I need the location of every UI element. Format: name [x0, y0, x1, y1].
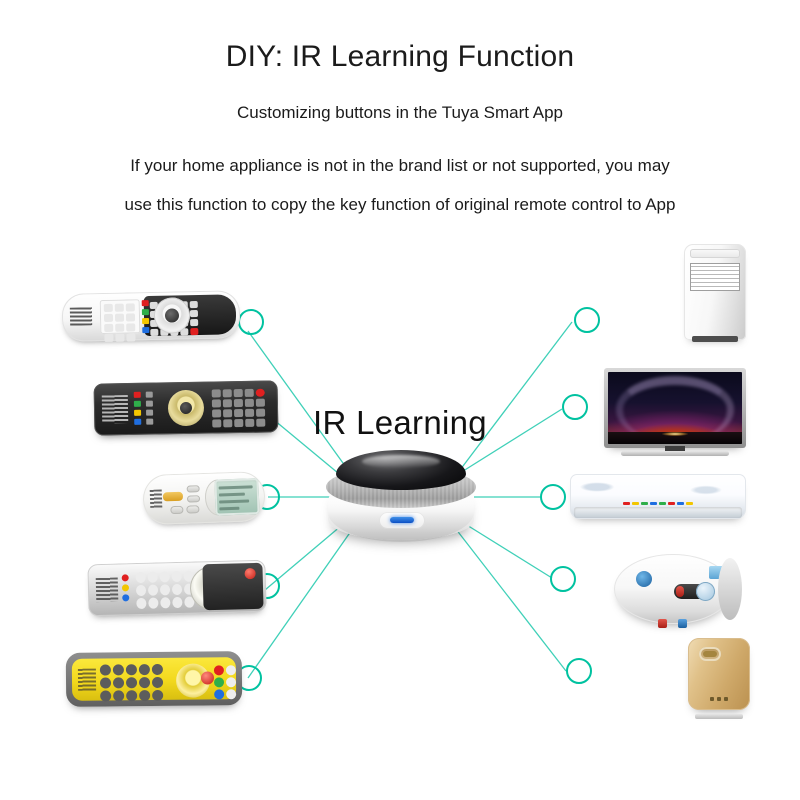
split-ac-indicator-leds — [623, 501, 693, 505]
air-purifier[interactable] — [688, 638, 750, 716]
purifier-body — [688, 638, 750, 710]
color-keys — [142, 300, 150, 336]
remote-number-pad — [136, 571, 195, 610]
hub-led-indicator — [390, 517, 414, 523]
remote-brand-text — [70, 307, 92, 325]
purifier-brand-mark — [710, 697, 728, 701]
ac-remote-lcd[interactable] — [142, 471, 266, 525]
fan-button — [170, 506, 183, 514]
hub-dome — [336, 450, 466, 490]
remote-face — [72, 657, 236, 701]
ac-control-panel — [690, 249, 740, 258]
heater-indicator — [676, 586, 684, 597]
connection-node-right-1[interactable] — [574, 307, 600, 333]
heater-tank — [614, 554, 732, 624]
hub-dome-highlight — [362, 455, 440, 468]
heater-brand-logo — [636, 571, 652, 587]
connection-diagram: IR Learning — [0, 0, 800, 800]
remote-side-keys — [214, 665, 236, 699]
temp-up-button — [187, 485, 200, 492]
split-ac-pattern — [578, 479, 738, 499]
purifier-handle — [699, 647, 721, 661]
ac-vent-grill — [690, 263, 740, 291]
ac-base — [692, 336, 738, 342]
hub-led-pad — [379, 512, 425, 529]
connection-node-right-5[interactable] — [566, 658, 592, 684]
split-ac-air-vent — [574, 507, 742, 518]
remote-label-block — [150, 489, 163, 507]
purifier-base — [695, 714, 743, 719]
remote-lcd-display — [214, 478, 259, 516]
ir-learning-hub[interactable] — [322, 450, 480, 550]
number-keys — [104, 303, 136, 342]
split-air-conditioner[interactable] — [570, 474, 746, 536]
connection-node-right-3[interactable] — [540, 484, 566, 510]
page-root: DIY: IR Learning Function Customizing bu… — [0, 0, 800, 800]
remote-number-pad — [100, 664, 163, 702]
heater-cold-pipe — [678, 619, 687, 628]
split-ac-body — [570, 474, 746, 519]
universal-remote-silver[interactable] — [87, 560, 266, 617]
color-keys — [122, 574, 130, 604]
remote-number-pad — [100, 299, 141, 334]
connection-node-left-1[interactable] — [238, 309, 264, 335]
remote-label-block — [78, 669, 96, 691]
tv-remote-yellow[interactable] — [66, 651, 243, 707]
swing-button — [186, 505, 199, 513]
power-button — [201, 671, 214, 684]
water-heater[interactable] — [614, 554, 742, 630]
tv-remote-white[interactable] — [62, 290, 241, 342]
connection-node-right-4[interactable] — [550, 566, 576, 592]
tv-stand-base — [621, 451, 729, 456]
temp-down-button — [187, 495, 200, 502]
mode-button — [163, 492, 183, 502]
center-label: IR Learning — [0, 404, 800, 442]
portable-air-conditioner[interactable] — [684, 238, 746, 343]
ac-body — [684, 244, 746, 340]
heater-end-cap — [718, 558, 742, 620]
remote-label-block — [96, 578, 119, 603]
heater-control-knob — [696, 582, 715, 601]
wire-right-1 — [460, 322, 572, 470]
heater-hot-pipe — [658, 619, 667, 628]
